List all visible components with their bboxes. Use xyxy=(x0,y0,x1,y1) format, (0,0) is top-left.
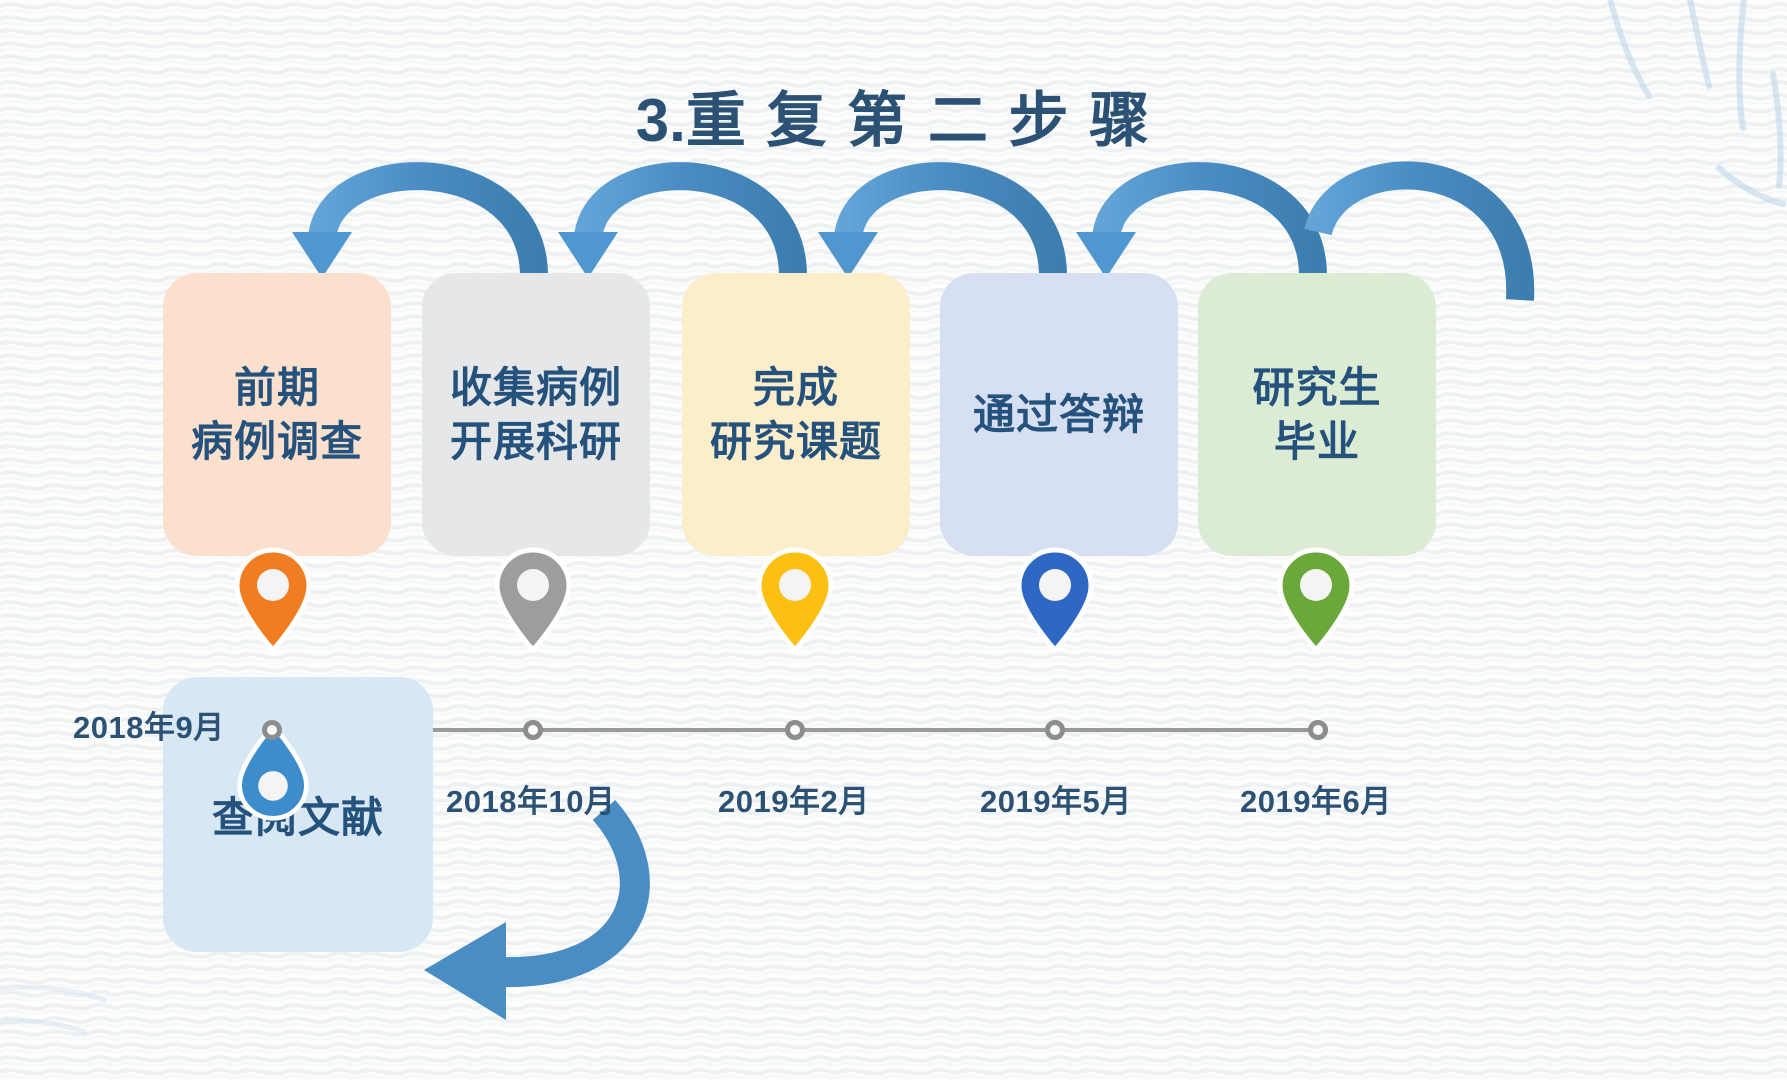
date-label-3: 2019年2月 xyxy=(718,776,870,821)
repeat-arc-arrow-3 xyxy=(818,176,1053,278)
page-title: 3.重 复 第 二 步 骤 xyxy=(0,72,1787,159)
timeline-node-3[interactable] xyxy=(785,720,805,740)
loopback-arc-arrow xyxy=(424,810,635,1020)
map-pin-5[interactable] xyxy=(1276,546,1356,654)
map-pin-1[interactable] xyxy=(233,546,313,654)
map-pin-3[interactable] xyxy=(755,546,835,654)
date-label-4: 2019年5月 xyxy=(980,776,1132,821)
step-card-2-label: 收集病例 开展科研 xyxy=(450,361,622,469)
step-card-5[interactable]: 研究生 毕业 xyxy=(1198,273,1436,556)
repeat-arc-arrow-2 xyxy=(558,176,793,278)
timeline-node-1[interactable] xyxy=(262,720,282,740)
date-label-5: 2019年6月 xyxy=(1240,776,1392,821)
step-card-5-label: 研究生 毕业 xyxy=(1252,361,1381,469)
step-card-4-label: 通过答辩 xyxy=(973,388,1145,442)
step-card-4[interactable]: 通过答辩 xyxy=(940,273,1178,556)
repeat-arc-arrow-1 xyxy=(292,176,534,278)
timeline-node-5[interactable] xyxy=(1308,720,1328,740)
step-card-3[interactable]: 完成 研究课题 xyxy=(682,273,910,556)
decorative-strokes-bottom-left xyxy=(0,920,180,1080)
title-text: 重 复 第 二 步 骤 xyxy=(686,87,1151,154)
date-label-2: 2018年10月 xyxy=(446,776,615,821)
title-number: 3. xyxy=(636,87,686,154)
map-pin-2[interactable] xyxy=(493,546,573,654)
map-pin-4[interactable] xyxy=(1015,546,1095,654)
step-card-1-label: 前期 病例调查 xyxy=(191,361,363,469)
timeline-node-2[interactable] xyxy=(523,720,543,740)
step-card-1[interactable]: 前期 病例调查 xyxy=(163,273,391,556)
date-label-1: 2018年9月 xyxy=(73,702,225,747)
timeline-node-4[interactable] xyxy=(1045,720,1065,740)
step-card-2[interactable]: 收集病例 开展科研 xyxy=(422,273,650,556)
step-card-3-label: 完成 研究课题 xyxy=(710,361,882,469)
repeat-arc-arrow-4 xyxy=(1076,176,1313,278)
